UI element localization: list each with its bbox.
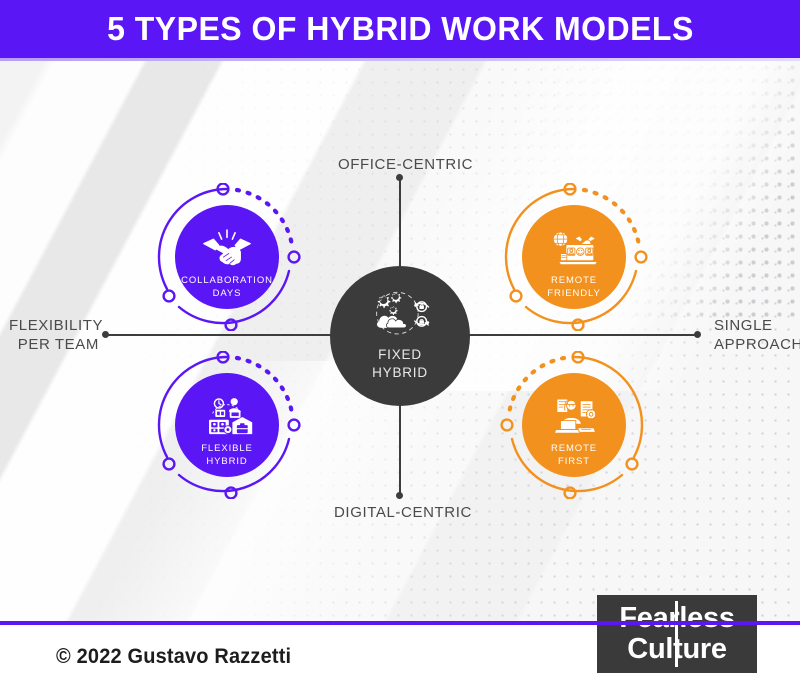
node-label-fixed-hybrid: FIXED HYBRID	[372, 346, 428, 382]
header-bar: 5 TYPES OF HYBRID WORK MODELS	[0, 0, 800, 58]
axis-endpoint-right-dot	[694, 331, 701, 338]
fearless-culture-logo: Fearless Culture	[597, 595, 757, 673]
hybrid-office-home-icon	[200, 395, 254, 439]
logo-line-2: Culture	[627, 634, 726, 665]
node-remote-friendly[interactable]: REMOTE FRIENDLY	[522, 205, 626, 309]
node-fixed-hybrid[interactable]: FIXED HYBRID	[330, 266, 470, 406]
node-label-flexible-hybrid: FLEXIBLE HYBRID	[201, 443, 253, 468]
axis-endpoint-left-dot	[102, 331, 109, 338]
axis-endpoint-top-dot	[396, 174, 403, 181]
remote-worker-desk-icon	[547, 395, 601, 439]
handshake-icon	[200, 227, 254, 271]
infographic-poster: 5 TYPES OF HYBRID WORK MODELS OFFICE-CEN…	[0, 0, 800, 699]
node-label-remote-first: REMOTE FIRST	[551, 443, 597, 468]
globe-laptop-videocall-icon	[547, 227, 601, 271]
node-label-remote-friendly: REMOTE FRIENDLY	[547, 275, 600, 300]
logo-line-1: Fearless	[619, 603, 734, 634]
header-accent-line	[0, 58, 800, 61]
page-title: 5 TYPES OF HYBRID WORK MODELS	[107, 10, 694, 48]
node-flexible-hybrid[interactable]: FLEXIBLE HYBRID	[175, 373, 279, 477]
node-remote-first[interactable]: REMOTE FIRST	[522, 373, 626, 477]
axis-label-office-centric: OFFICE-CENTRIC	[338, 155, 473, 174]
axis-endpoint-bottom-dot	[396, 492, 403, 499]
axis-label-flexibility-per-team: FLEXIBILITY PER TEAM	[9, 316, 99, 354]
axis-label-single-approach: SINGLE APPROACH	[714, 316, 800, 354]
node-collaboration-days[interactable]: COLLABORATION DAYS	[175, 205, 279, 309]
gears-cloud-sync-icon	[361, 288, 439, 340]
copyright-text: © 2022 Gustavo Razzetti	[56, 645, 291, 669]
axis-label-digital-centric: DIGITAL-CENTRIC	[334, 503, 472, 522]
node-label-collaboration-days: COLLABORATION DAYS	[181, 275, 273, 300]
footer-rule	[0, 621, 800, 625]
